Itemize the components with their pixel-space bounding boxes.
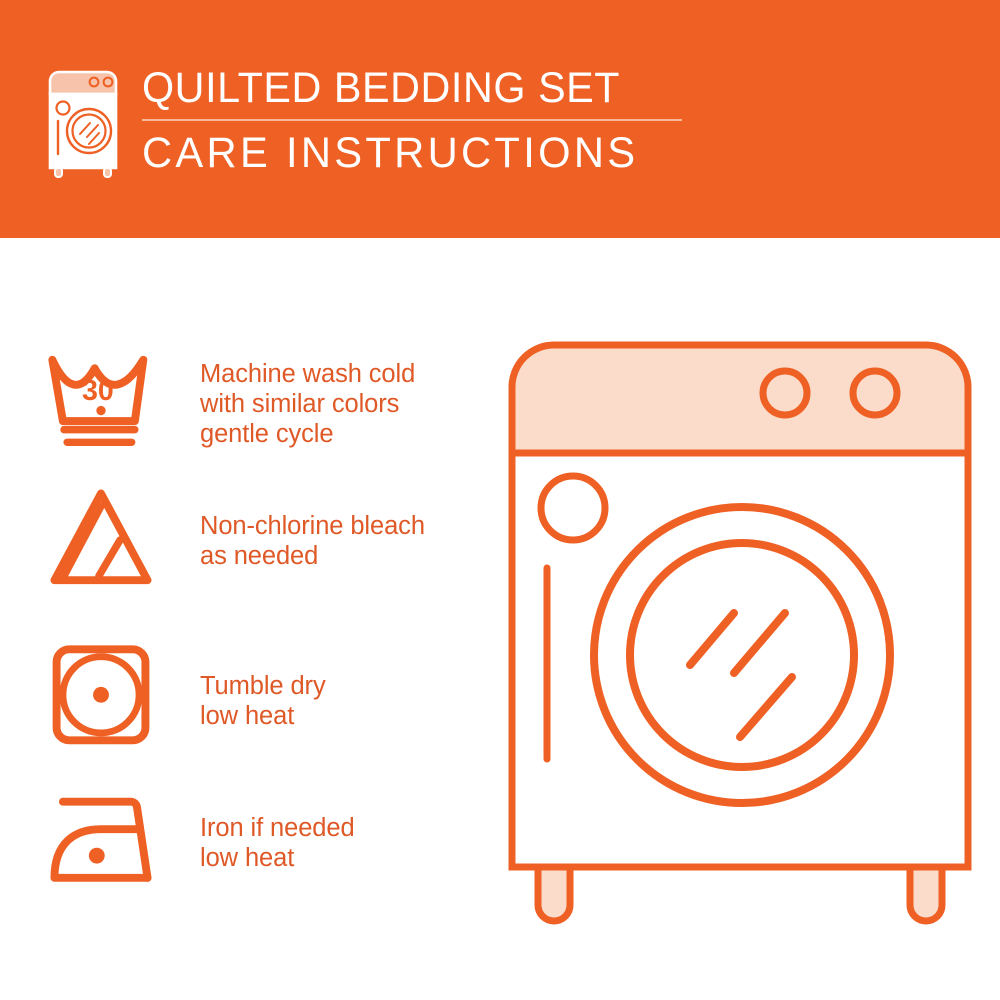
care-item-tumble-dry: Tumble dry low heat: [46, 644, 326, 748]
care-item-machine-wash: 30 Machine wash cold with similar colors…: [46, 346, 415, 450]
iron-low-heat-icon: [46, 790, 156, 894]
header-band: QUILTED BEDDING SET CARE INSTRUCTIONS: [0, 0, 1000, 238]
page-subtitle: CARE INSTRUCTIONS: [142, 128, 666, 178]
wash-tub-30-gentle-icon: 30: [46, 346, 156, 450]
header-title-group: QUILTED BEDDING SET CARE INSTRUCTIONS: [142, 64, 682, 178]
washing-machine-icon: [44, 68, 122, 180]
non-chlorine-bleach-triangle-icon: [46, 486, 156, 590]
care-item-label: Machine wash cold with similar colors ge…: [200, 359, 415, 449]
care-item-bleach: Non-chlorine bleach as needed: [46, 486, 425, 590]
tumble-dry-low-heat-icon: [46, 644, 156, 748]
title-divider: [142, 119, 682, 121]
svg-text:30: 30: [82, 375, 114, 407]
header-content: QUILTED BEDDING SET CARE INSTRUCTIONS: [44, 62, 682, 180]
care-item-label: Non-chlorine bleach as needed: [200, 511, 425, 571]
care-instructions-list: 30 Machine wash cold with similar colors…: [0, 238, 490, 1000]
care-item-iron: Iron if needed low heat: [46, 790, 355, 894]
care-item-label: Tumble dry low heat: [200, 671, 326, 731]
washing-machine-illustration: [490, 325, 990, 935]
page-title: QUILTED BEDDING SET: [142, 64, 660, 112]
care-item-label: Iron if needed low heat: [200, 813, 355, 873]
